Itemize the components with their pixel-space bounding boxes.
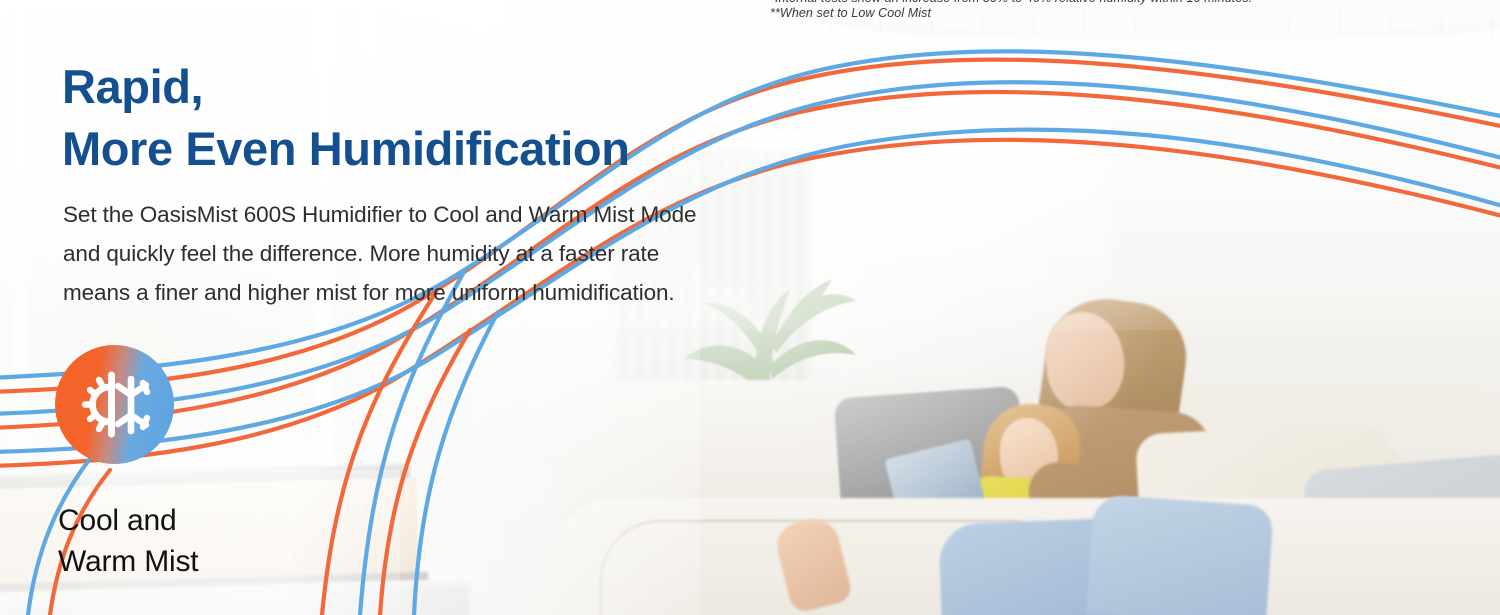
- cool-warm-mist-badge: [55, 345, 174, 464]
- page-title: Rapid, More Even Humidification: [62, 56, 630, 180]
- headline-line-2: More Even Humidification: [62, 122, 630, 175]
- badge-label: Cool and Warm Mist: [58, 500, 198, 582]
- badge-label-line-2: Warm Mist: [58, 545, 198, 578]
- badge-label-line-1: Cool and: [58, 504, 177, 537]
- body-line-3: means a finer and higher mist for more u…: [63, 280, 675, 305]
- body-line-2: and quickly feel the difference. More hu…: [63, 241, 659, 266]
- body-copy: Set the OasisMist 600S Humidifier to Coo…: [63, 195, 893, 312]
- arc-tail-orange-2: [380, 330, 470, 615]
- body-line-1: Set the OasisMist 600S Humidifier to Coo…: [63, 202, 696, 227]
- footnote-secondary: **When set to Low Cool Mist: [770, 6, 1490, 21]
- footnotes: *Internal tests show an increase from 30…: [770, 0, 1490, 21]
- headline-line-1: Rapid,: [62, 60, 203, 113]
- product-banner: *Internal tests show an increase from 30…: [0, 0, 1500, 615]
- sun-snowflake-icon: [55, 345, 174, 464]
